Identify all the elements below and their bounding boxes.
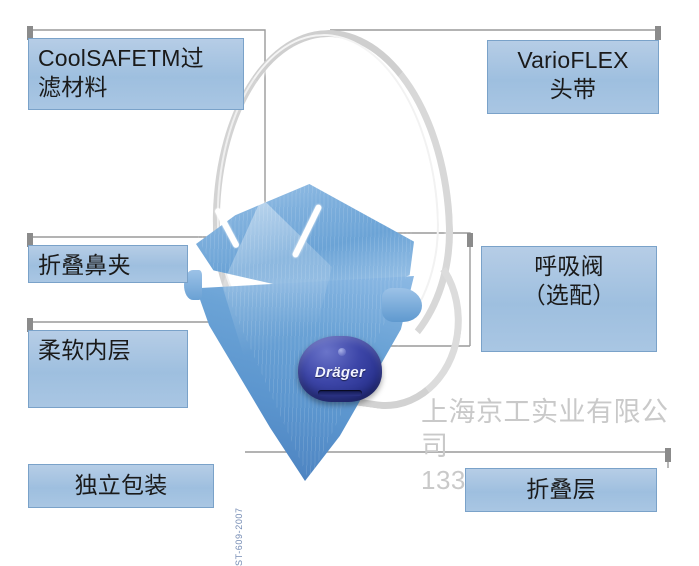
- valve-vent-slot: [318, 390, 362, 396]
- slide-canvas: Dräger ST-609-2007 上海京工实业有限公司 1337005985…: [0, 0, 699, 535]
- callout-text-folding-layer: 折叠层: [475, 475, 647, 504]
- valve-pin: [338, 348, 346, 356]
- callout-text-filter-material: CoolSAFETM过滤材料: [38, 44, 234, 103]
- line-endpoint-folding: [665, 448, 671, 462]
- brand-logo-drager: Dräger: [298, 364, 382, 381]
- exhalation-valve-part: Dräger: [298, 336, 382, 402]
- callout-text-packing: 独立包装: [38, 471, 204, 500]
- callout-text-valve: 呼吸阀（选配）: [491, 252, 647, 311]
- mask-body: Dräger ST-609-2007: [186, 184, 426, 484]
- callout-label-folding-layer[interactable]: 折叠层: [465, 468, 657, 512]
- standard-marking-text: ST-609-2007: [234, 507, 244, 566]
- callout-label-valve[interactable]: 呼吸阀（选配）: [481, 246, 657, 352]
- callout-label-nose-clip[interactable]: 折叠鼻夹: [28, 245, 188, 283]
- callout-text-nose-clip: 折叠鼻夹: [38, 251, 178, 280]
- mask-side-tab: [382, 288, 422, 322]
- callout-label-inner-layer[interactable]: 柔软内层: [28, 330, 188, 408]
- line-endpoint-headband: [655, 26, 661, 40]
- callout-label-packing[interactable]: 独立包装: [28, 464, 214, 508]
- callout-text-inner-layer: 柔软内层: [38, 336, 178, 365]
- callout-text-headband: VarioFLEX头带: [497, 46, 649, 105]
- callout-label-filter-material[interactable]: CoolSAFETM过滤材料: [28, 38, 244, 110]
- callout-label-headband[interactable]: VarioFLEX头带: [487, 40, 659, 114]
